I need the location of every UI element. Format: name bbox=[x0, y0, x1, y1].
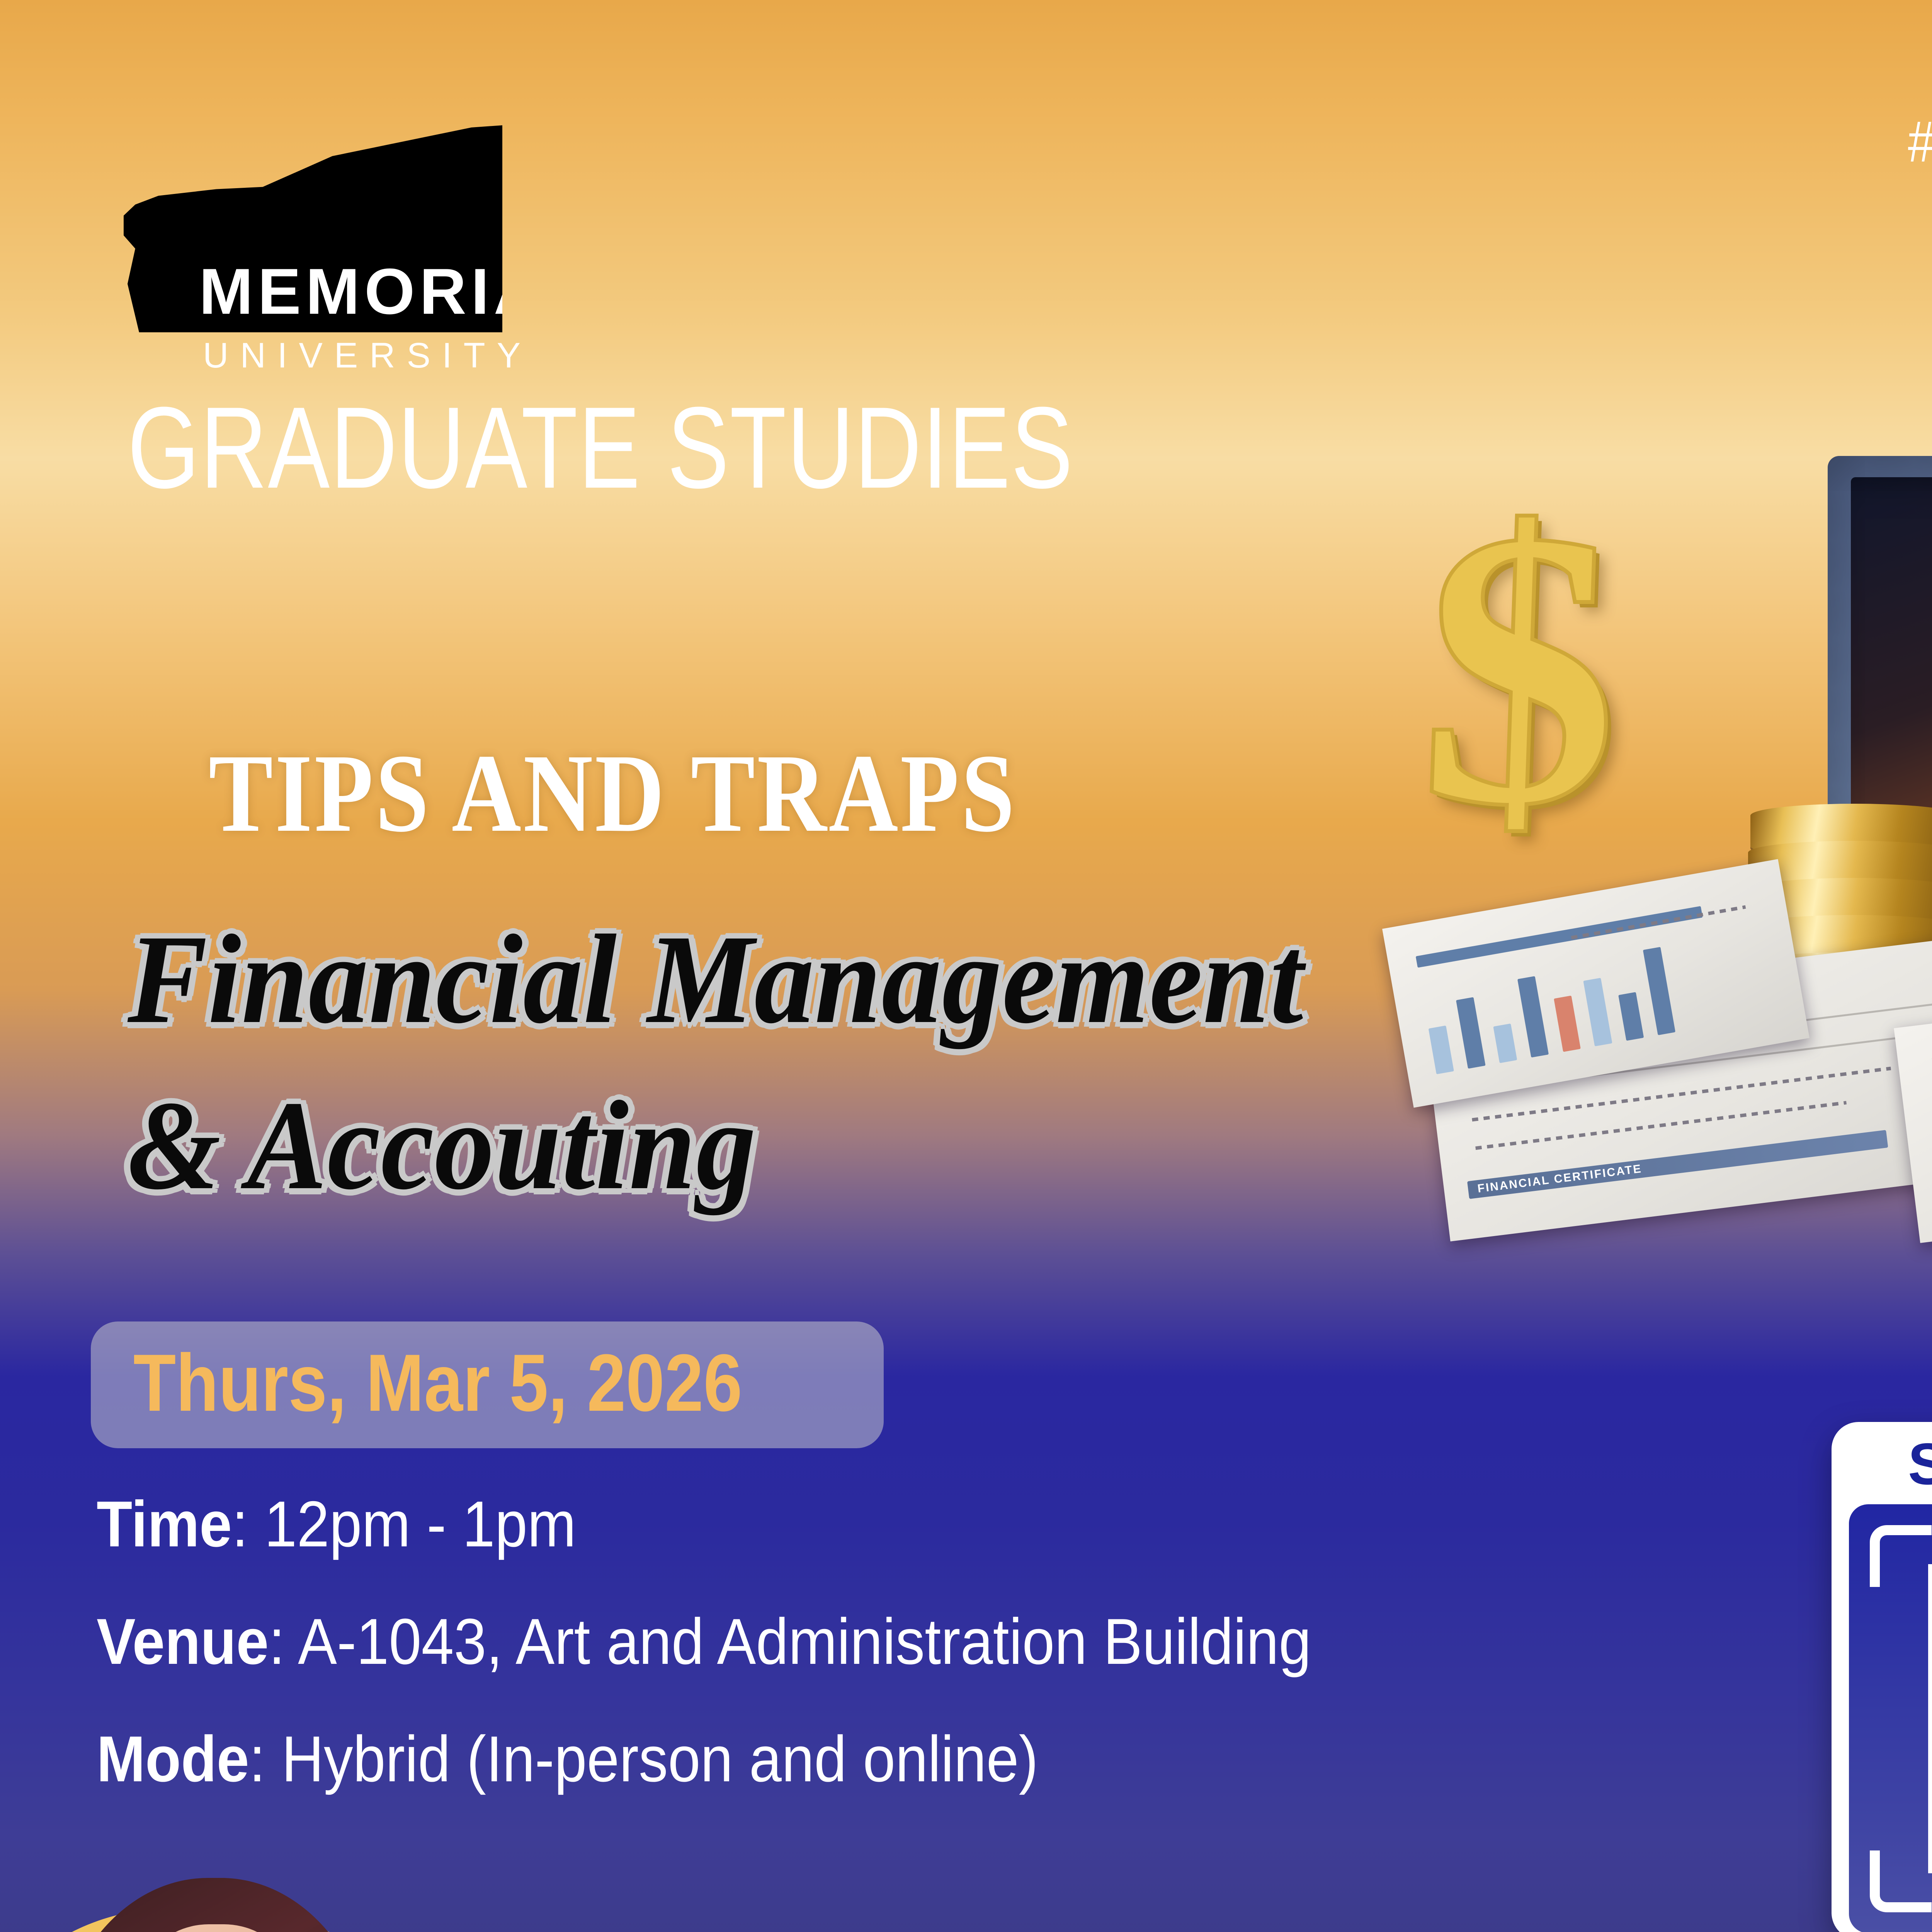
scan-bracket-bottom-left-icon bbox=[1870, 1850, 1932, 1912]
event-date-text: Thurs, Mar 5, 2026 bbox=[133, 1342, 742, 1423]
qr-code-card[interactable]: SCAN HERE bbox=[1832, 1422, 1932, 1932]
detail-row-venue: Venue: A-1043, Art and Administration Bu… bbox=[97, 1609, 1592, 1674]
detail-label-mode: Mode bbox=[97, 1723, 249, 1795]
qr-code-panel[interactable] bbox=[1849, 1504, 1932, 1932]
detail-label-time: Time bbox=[97, 1488, 232, 1560]
memorial-rock-icon: MEMORIAL bbox=[116, 112, 502, 332]
faculty-name: GRADUATE STUDIES bbox=[128, 389, 1073, 505]
detail-row-time: Time: 12pm - 1pm bbox=[97, 1492, 1592, 1556]
scan-bracket-top-left-icon bbox=[1870, 1525, 1932, 1587]
logo-wordmark: MEMORIAL bbox=[199, 259, 590, 324]
detail-colon-venue: : bbox=[269, 1605, 285, 1678]
detail-value-venue: A-1043, Art and Administration Building bbox=[285, 1605, 1311, 1678]
speaker-photo bbox=[0, 1870, 487, 1932]
financial-illustration: $ Financial Documents bbox=[1410, 456, 1932, 1422]
qr-card-title: SCAN HERE bbox=[1840, 1430, 1932, 1498]
speaker-hair bbox=[54, 1878, 375, 1932]
memorial-university-logo: MEMORIAL UNIVERSITY bbox=[116, 112, 502, 373]
title-line-2: & Accouting bbox=[128, 1082, 757, 1209]
qr-code-icon[interactable] bbox=[1928, 1564, 1932, 1873]
event-poster: $ Financial Documents bbox=[0, 0, 1932, 1932]
detail-row-mode: Mode: Hybrid (In-person and online) bbox=[97, 1726, 1592, 1791]
detail-colon-time: : bbox=[232, 1488, 248, 1560]
detail-label-venue: Venue bbox=[97, 1605, 269, 1678]
event-details: Time: 12pm - 1pm Venue: A-1043, Art and … bbox=[97, 1492, 1758, 1844]
logo-subwordmark: UNIVERSITY bbox=[203, 338, 502, 373]
title-kicker: TIPS AND TRAPS bbox=[209, 737, 1017, 849]
detail-value-time: 12pm - 1pm bbox=[248, 1488, 576, 1560]
event-hashtag: #ETPDevelop2026 bbox=[1908, 108, 1932, 175]
title-line-1: Financial Management bbox=[128, 916, 1304, 1043]
detail-colon-mode: : bbox=[249, 1723, 265, 1795]
detail-value-mode: Hybrid (In-person and online) bbox=[265, 1723, 1038, 1795]
dollar-sign-icon: $ bbox=[1416, 491, 1625, 845]
event-date-badge: Thurs, Mar 5, 2026 bbox=[91, 1321, 884, 1448]
